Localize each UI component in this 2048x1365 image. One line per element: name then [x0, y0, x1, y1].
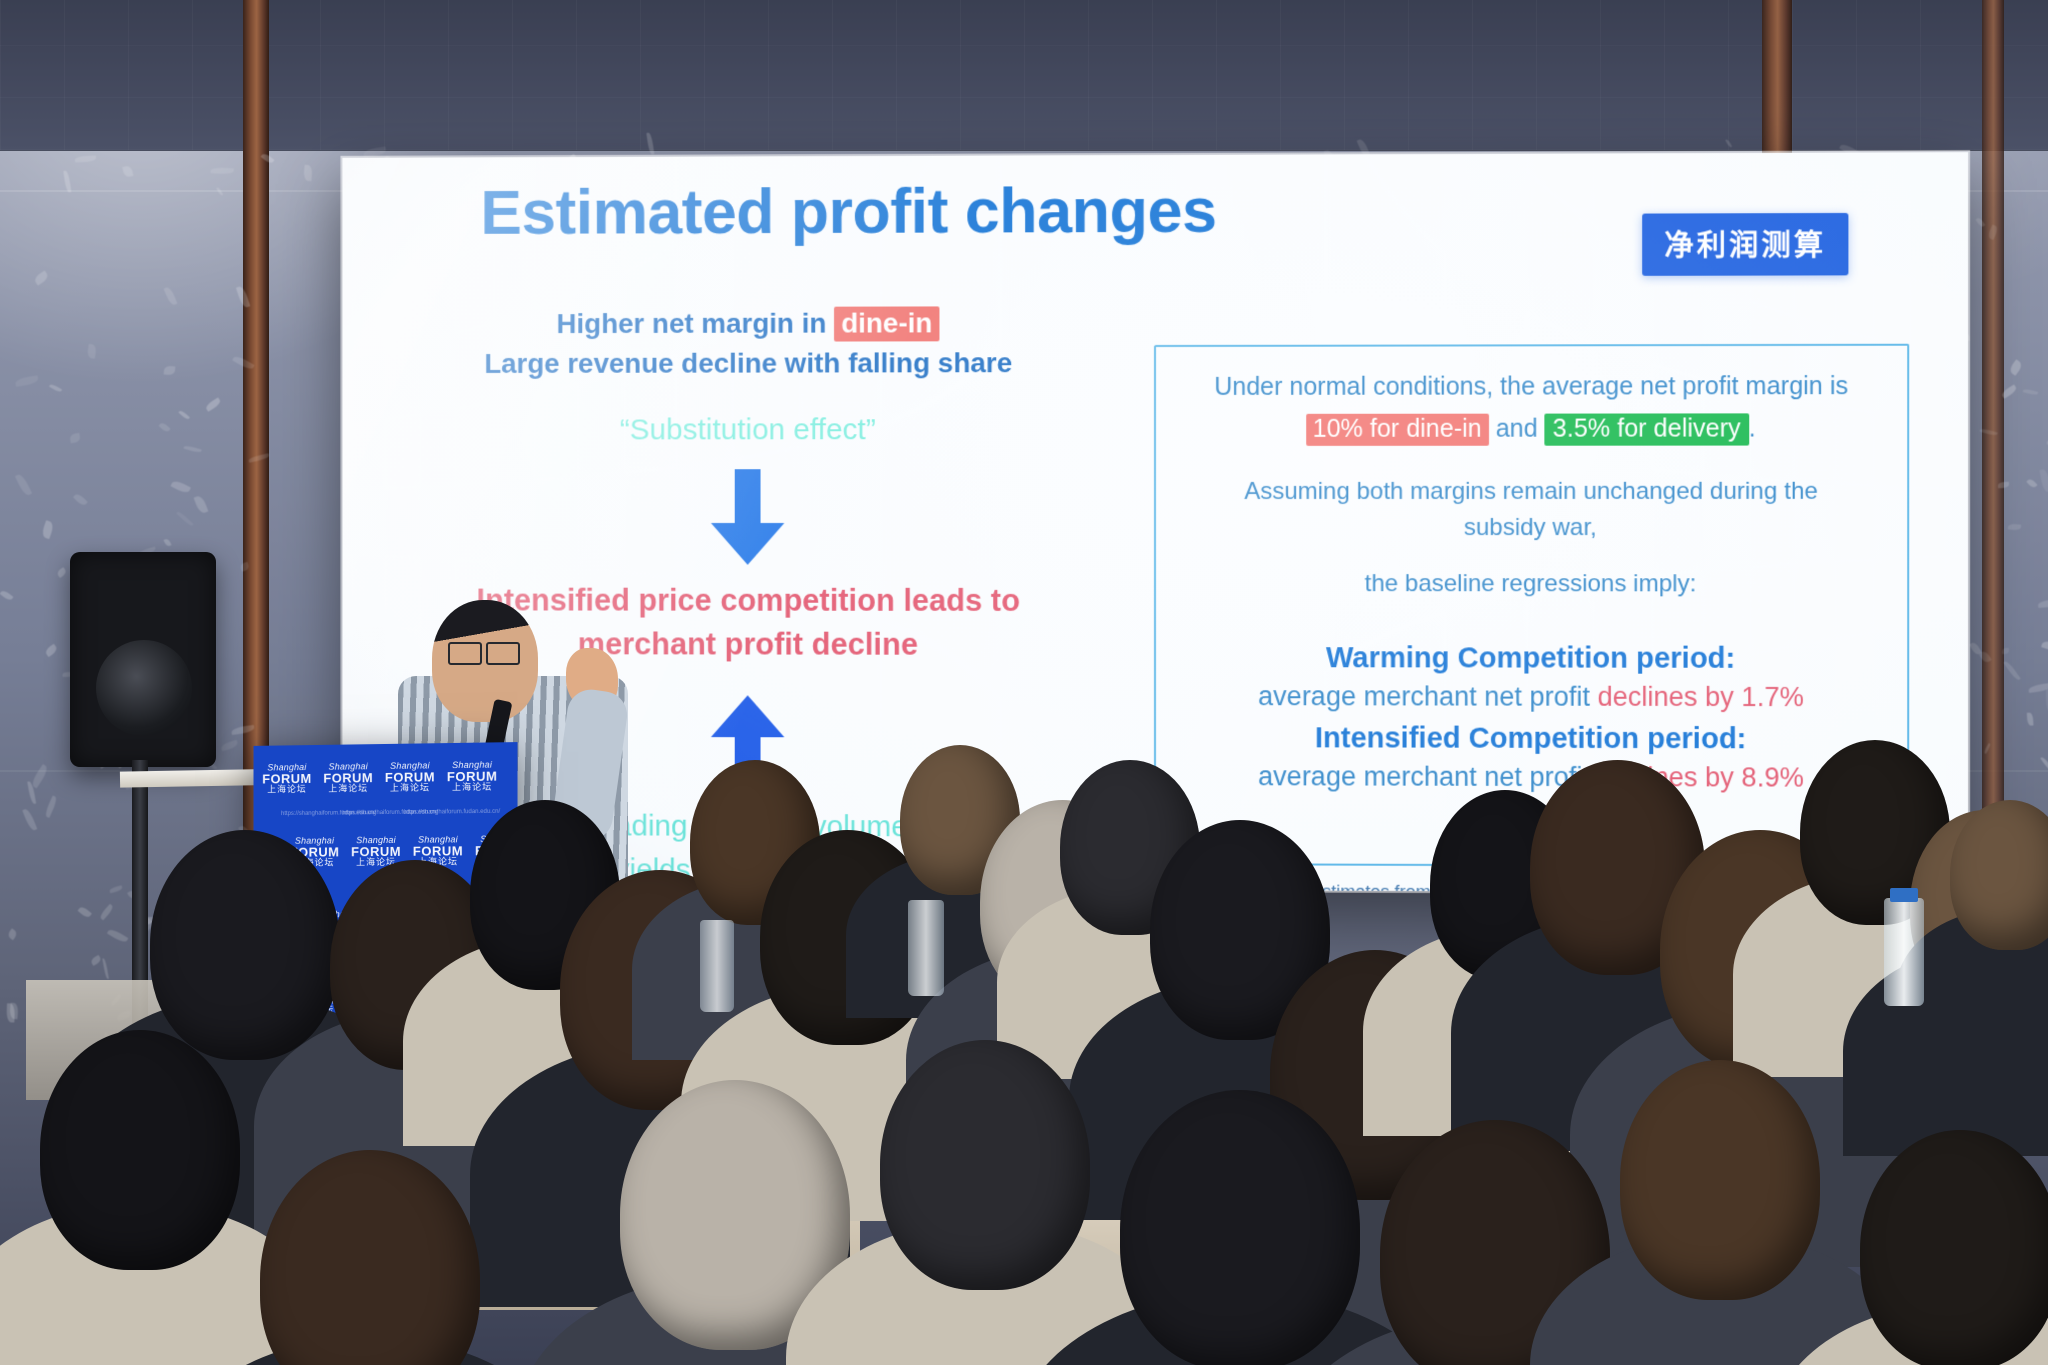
leaf-icon: [9, 1003, 18, 1020]
conference-photo: Estimated profit changes 净利润测算 Higher ne…: [0, 0, 2048, 1365]
period-1-heading: Warming Competition period:: [1174, 642, 1889, 676]
panel-assumption-line-2: subsidy war,: [1174, 510, 1889, 546]
delivery-margin-highlight: 3.5% for delivery: [1545, 413, 1749, 445]
audience-member-head: [1120, 1090, 1360, 1365]
speaker-glasses: [486, 642, 520, 665]
water-bottle: [1884, 898, 1924, 1006]
audience-member-head: [1620, 1060, 1820, 1300]
panel-intro-line-2: 10% for dine-in and 3.5% for delivery.: [1174, 410, 1889, 448]
panel-intro-mid: and: [1489, 414, 1545, 442]
logo-line-3: 上海论坛: [444, 783, 500, 793]
period-2-result-prefix: average merchant net profit: [1258, 761, 1597, 792]
period-2-heading: Intensified Competition period:: [1174, 722, 1889, 757]
logo-line-3: 上海论坛: [382, 783, 438, 793]
audience-member-head: [1860, 1130, 2048, 1365]
pa-speaker-cone: [96, 640, 192, 736]
arrow-down-icon: [705, 469, 790, 565]
water-bottle: [908, 900, 944, 996]
period-1-result-prefix: average merchant net profit: [1258, 681, 1597, 712]
speaker-glasses: [448, 642, 482, 665]
period-1-result: average merchant net profit declines by …: [1174, 681, 1889, 713]
audience-member-head: [150, 830, 340, 1060]
banner-url: https://shanghaiforum.fudan.edu.cn/: [404, 809, 500, 816]
audience-member-head: [880, 1040, 1090, 1290]
panel-intro-tail: .: [1749, 414, 1756, 442]
logo-line-3: 上海论坛: [320, 784, 376, 794]
shanghai-forum-logo: ShanghaiFORUM上海论坛: [259, 763, 314, 795]
left-line-2: Large revenue decline with falling share: [372, 343, 1126, 384]
panel-intro-line-1: Under normal conditions, the average net…: [1174, 368, 1889, 407]
period-1-drop-value: declines by 1.7%: [1598, 682, 1804, 712]
left-line-1-prefix: Higher net margin in: [557, 308, 835, 339]
water-bottle-cap: [1890, 888, 1918, 902]
water-bottle: [700, 920, 734, 1012]
dine-in-highlight: dine-in: [834, 306, 939, 341]
audience-member-head: [40, 1030, 240, 1270]
left-line-1: Higher net margin in dine-in: [372, 303, 1126, 344]
shanghai-forum-logo: ShanghaiFORUM上海论坛: [320, 762, 376, 794]
slide-right-panel: Under normal conditions, the average net…: [1154, 344, 1909, 868]
ceiling-grid: [0, 0, 2048, 150]
slide-title: Estimated profit changes: [480, 175, 1216, 249]
shanghai-forum-logo: ShanghaiFORUM上海论坛: [382, 761, 438, 793]
period-2-result: average merchant net profit declines by …: [1174, 761, 1889, 794]
logo-line-3: 上海论坛: [259, 785, 314, 795]
substitution-effect-label: “Substitution effect”: [372, 413, 1126, 448]
panel-assumption-line-3: the baseline regressions imply:: [1174, 566, 1889, 603]
panel-assumption-line-1: Assuming both margins remain unchanged d…: [1174, 474, 1889, 510]
shanghai-forum-logo: ShanghaiFORUM上海论坛: [444, 760, 500, 792]
slide-badge: 净利润测算: [1642, 213, 1848, 276]
dine-in-margin-highlight: 10% for dine-in: [1306, 413, 1489, 445]
